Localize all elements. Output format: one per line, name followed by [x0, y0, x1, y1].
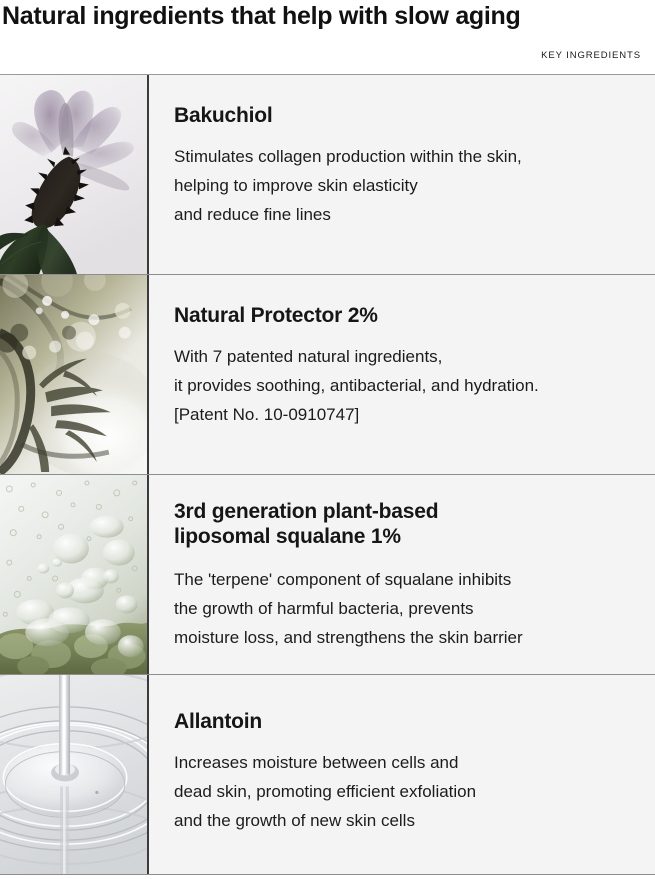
ingredient-copy: Natural Protector 2% With 7 patented nat… — [149, 275, 655, 474]
ingredient-description-line: it provides soothing, antibacterial, and… — [174, 371, 639, 400]
ingredient-description: Stimulates collagen production within th… — [174, 142, 639, 229]
ingredient-description-line: Increases moisture between cells and — [174, 748, 639, 777]
ingredient-description: With 7 patented natural ingredients, it … — [174, 342, 639, 429]
xray-flower-image — [0, 75, 149, 274]
ingredient-title: 3rd generation plant-based liposomal squ… — [174, 499, 639, 549]
eyebrow-row: KEY INGREDIENTS — [541, 45, 641, 63]
ingredient-copy: Allantoin Increases moisture between cel… — [149, 675, 655, 874]
ingredient-row: Bakuchiol Stimulates collagen production… — [0, 75, 655, 275]
ingredient-description-line: The 'terpene' component of squalane inhi… — [174, 565, 639, 594]
ingredient-description-line: [Patent No. 10-0910747] — [174, 400, 639, 429]
ingredient-description-line: the growth of harmful bacteria, prevents — [174, 594, 639, 623]
ingredient-title-line: Allantoin — [174, 709, 639, 734]
ingredient-title-line: liposomal squalane 1% — [174, 524, 639, 549]
ingredient-copy: Bakuchiol Stimulates collagen production… — [149, 75, 655, 274]
ingredient-description-line: dead skin, promoting efficient exfoliati… — [174, 777, 639, 806]
rising-bubbles-image — [0, 475, 149, 674]
ingredient-description-line: helping to improve skin elasticity — [174, 171, 639, 200]
key-ingredients-page: Natural ingredients that help with slow … — [0, 0, 655, 879]
ingredient-title: Bakuchiol — [174, 103, 639, 128]
ingredient-description-line: With 7 patented natural ingredients, — [174, 342, 639, 371]
ingredient-description-line: and the growth of new skin cells — [174, 806, 639, 835]
ingredient-description-line: and reduce fine lines — [174, 200, 639, 229]
ingredient-description-line: moisture loss, and strengthens the skin … — [174, 623, 639, 652]
ingredient-title-line: 3rd generation plant-based — [174, 499, 639, 524]
page-title: Natural ingredients that help with slow … — [2, 0, 641, 30]
page-header: Natural ingredients that help with slow … — [0, 0, 655, 75]
ingredient-row: Natural Protector 2% With 7 patented nat… — [0, 275, 655, 475]
ingredient-title: Natural Protector 2% — [174, 303, 639, 328]
ingredient-title-line: Natural Protector 2% — [174, 303, 639, 328]
ingredient-description-line: Stimulates collagen production within th… — [174, 142, 639, 171]
section-label: KEY INGREDIENTS — [541, 50, 641, 61]
oil-droplets-plant-shadow-image — [0, 275, 149, 474]
water-ripple-pour-image — [0, 675, 149, 874]
ingredient-row: Allantoin Increases moisture between cel… — [0, 675, 655, 875]
ingredient-row: 3rd generation plant-based liposomal squ… — [0, 475, 655, 675]
ingredient-copy: 3rd generation plant-based liposomal squ… — [149, 475, 655, 674]
ingredient-title-line: Bakuchiol — [174, 103, 639, 128]
ingredient-list: Bakuchiol Stimulates collagen production… — [0, 75, 655, 875]
ingredient-description: Increases moisture between cells and dea… — [174, 748, 639, 835]
ingredient-title: Allantoin — [174, 709, 639, 734]
ingredient-description: The 'terpene' component of squalane inhi… — [174, 565, 639, 652]
